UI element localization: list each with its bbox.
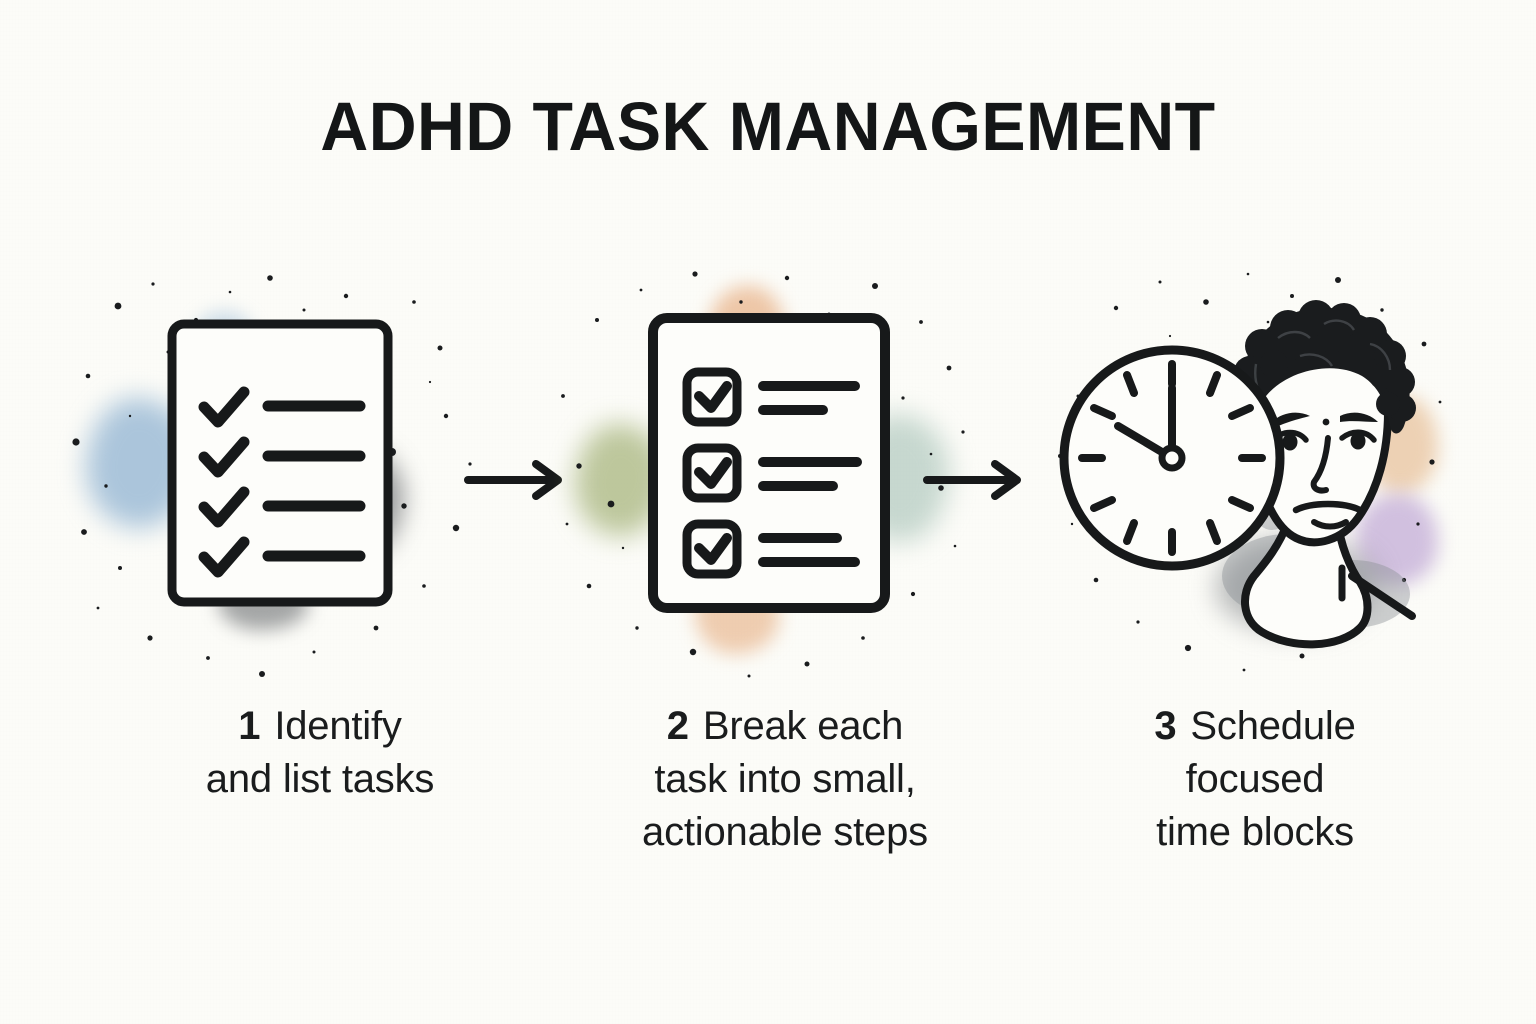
clock-and-person-icon bbox=[1040, 276, 1440, 676]
checklist-document-icon bbox=[78, 276, 478, 676]
step-2-illustration bbox=[565, 276, 965, 676]
caption-step-2-line-1: Break each bbox=[703, 704, 903, 748]
caption-step-2: 2Break each task into small, actionable … bbox=[545, 700, 1025, 860]
page-title: ADHD TASK MANAGEMENT bbox=[31, 92, 1506, 161]
caption-step-3-line-2: focused bbox=[1186, 757, 1325, 801]
step-1-art-stage bbox=[78, 276, 478, 676]
caption-step-3: 3Schedule focused time blocks bbox=[1015, 700, 1495, 860]
checkbox-list-document-icon bbox=[565, 276, 965, 676]
step-number-1: 1 bbox=[238, 704, 260, 748]
step-3-art-stage bbox=[1040, 276, 1440, 676]
arrow-step-1-to-2-icon bbox=[462, 458, 572, 502]
step-number-2: 2 bbox=[667, 704, 689, 748]
arrow-step-2-to-3-icon bbox=[921, 458, 1031, 502]
step-number-3: 3 bbox=[1154, 704, 1176, 748]
caption-step-3-line-1: Schedule bbox=[1190, 704, 1355, 748]
caption-step-1-line-2: and list tasks bbox=[206, 757, 434, 801]
caption-step-1: 1Identify and list tasks bbox=[80, 700, 560, 806]
step-2-art-stage bbox=[565, 276, 965, 676]
caption-step-1-line-1: Identify bbox=[274, 704, 401, 748]
step-3-illustration bbox=[1040, 276, 1440, 676]
step-captions: 1Identify and list tasks 2Break each tas… bbox=[0, 700, 1536, 920]
caption-step-3-line-3: time blocks bbox=[1156, 810, 1354, 854]
process-flow bbox=[0, 276, 1536, 676]
caption-step-2-line-3: actionable steps bbox=[642, 810, 928, 854]
caption-step-2-line-2: task into small, bbox=[654, 757, 915, 801]
step-1-illustration bbox=[78, 276, 478, 676]
